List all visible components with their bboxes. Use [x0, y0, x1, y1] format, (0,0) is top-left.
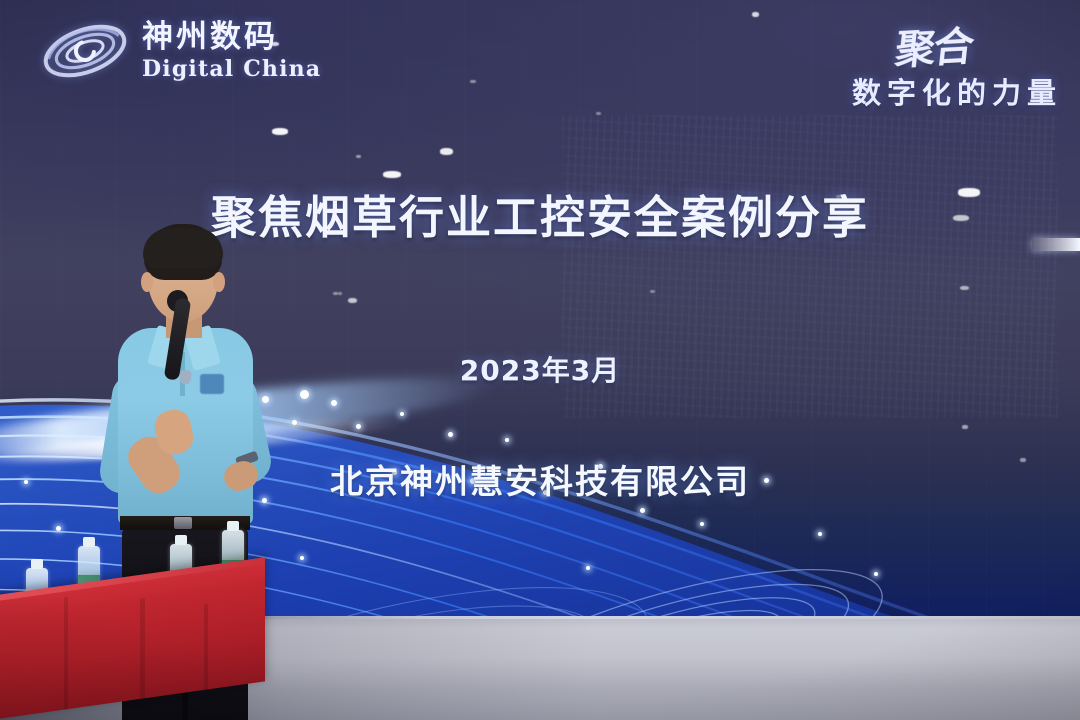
brand-logo-right: 聚合 数字化的力量 [852, 16, 1062, 112]
brand-slogan: 数字化的力量 [852, 70, 1062, 112]
tablecloth-fold [204, 603, 208, 690]
brand-text-block: 神州数码 Digital China [142, 22, 321, 80]
bottle-cap [175, 535, 187, 545]
brand-name-en: Digital China [142, 58, 321, 80]
tablecloth-fold [64, 597, 68, 710]
speaker-belt-buckle [174, 517, 192, 529]
tablecloth-fold [140, 598, 145, 699]
bottle-cap [31, 559, 43, 569]
bottle-cap [83, 537, 95, 547]
brand-name-cn: 神州数码 [142, 22, 321, 53]
foreground-table [0, 580, 270, 720]
brand-calligraphy: 聚合 [893, 14, 976, 76]
speaker-ear-right [213, 272, 225, 292]
speaker-ear-left [141, 272, 153, 292]
speaker-hair-top [143, 228, 223, 268]
spiral-galaxy-icon [42, 18, 128, 84]
brand-logo-left: 神州数码 Digital China [42, 18, 321, 84]
conference-photo: 聚焦烟草行业工控安全案例分享 2023年3月 北京神州慧安科技有限公司 神州数码… [0, 0, 1080, 720]
company-badge-icon [200, 374, 224, 394]
bottle-cap [227, 521, 239, 531]
